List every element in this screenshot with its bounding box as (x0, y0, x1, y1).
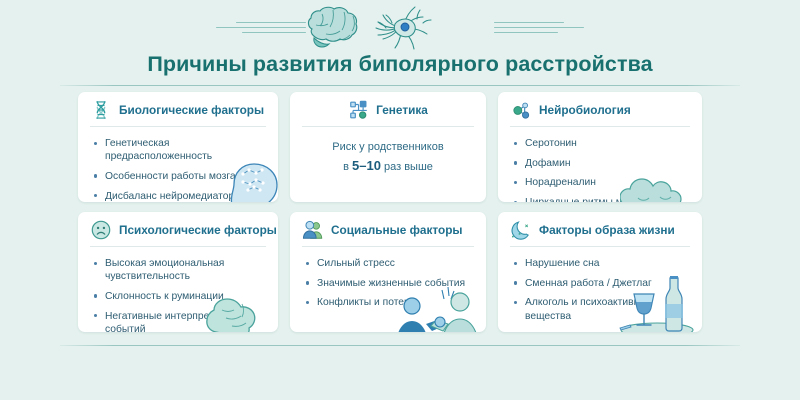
card-lifestyle[interactable]: Факторы образа жизни Нарушение сна Сменн… (498, 212, 702, 332)
card-neurobiology[interactable]: Нейробиология Серотонин Дофамин Норадрен… (498, 92, 702, 202)
infographic-canvas: Причины развития биполярного расстройств… (0, 0, 800, 400)
list-item: Норадреналин (514, 176, 692, 189)
molecule-icon (510, 99, 532, 121)
card-title: Биологические факторы (119, 103, 264, 117)
list-item: Генетическая предрасположенность (94, 137, 268, 163)
neuron-illustration (376, 7, 431, 49)
card-header: Биологические факторы (78, 92, 278, 126)
stat-prefix: в (343, 161, 349, 173)
header-divider (90, 126, 266, 127)
card-title: Нейробиология (539, 103, 631, 117)
list-item: Дисбаланс нейромедиаторов (94, 190, 268, 202)
page-title: Причины развития биполярного расстройств… (0, 52, 800, 77)
list-item: Нарушение сна (514, 257, 692, 270)
genetics-stat-line1: Риск у родственников (300, 140, 476, 156)
header-divider (90, 246, 266, 247)
card-header: Нейробиология (498, 92, 702, 126)
pedigree-chart-icon (348, 99, 370, 121)
card-header: Психологические факторы (78, 212, 278, 246)
divider-bottom (60, 345, 740, 346)
card-title: Психологические факторы (119, 223, 277, 237)
sad-face-icon (90, 219, 112, 241)
card-title: Генетика (376, 103, 428, 117)
list-item: Высокая эмоциональная чувствительность (94, 257, 268, 283)
stat-value: 5–10 (352, 158, 381, 173)
header-divider (302, 246, 474, 247)
card-header: Генетика (290, 92, 486, 126)
header-divider (302, 126, 474, 127)
header-divider (510, 126, 690, 127)
crescent-moon-icon (510, 219, 532, 241)
card-biological[interactable]: Биологические факторы Генетическая предр… (78, 92, 278, 202)
list-item: Негативные интерпретации событий (94, 310, 268, 332)
list-item: Склонность к руминации (94, 290, 268, 303)
list-item: Серотонин (514, 137, 692, 150)
card-genetics[interactable]: Генетика Риск у родственников в 5–10 раз… (290, 92, 486, 202)
card-header: Факторы образа жизни (498, 212, 702, 246)
list-item: Особенности работы мозга (94, 170, 268, 183)
list-item: Дофамин (514, 157, 692, 170)
card-psychological[interactable]: Психологические факторы Высокая эмоциона… (78, 212, 278, 332)
header-divider (510, 246, 690, 247)
genetics-stat: Риск у родственников в 5–10 раз выше (290, 134, 486, 176)
brain-illustration (308, 7, 356, 47)
header-left-lines (196, 22, 306, 40)
card-item-list: Высокая эмоциональная чувствительность С… (78, 254, 278, 332)
card-title: Факторы образа жизни (539, 223, 675, 237)
genetics-stat-line2: в 5–10 раз выше (300, 157, 476, 176)
card-social[interactable]: Социальные факторы Сильный стресс Значим… (290, 212, 486, 332)
header-right-lines (494, 22, 604, 40)
list-item: Сменная работа / Джетлаг (514, 277, 692, 290)
header-illustration (0, 0, 800, 52)
two-people-icon (302, 219, 324, 241)
list-item: Значимые жизненные события (306, 277, 476, 290)
brain-and-neuron-icon (300, 2, 500, 52)
list-item: Конфликты и потери (306, 296, 476, 309)
card-item-list: Сильный стресс Значимые жизненные событи… (290, 254, 486, 310)
list-item: Сильный стресс (306, 257, 476, 270)
card-header: Социальные факторы (290, 212, 486, 246)
list-item: Циркадные ритмы мозга (514, 196, 692, 202)
stat-suffix: раз выше (384, 161, 433, 173)
list-item: Алкоголь и психоактивные вещества (514, 296, 692, 322)
card-title: Социальные факторы (331, 223, 462, 237)
card-item-list: Серотонин Дофамин Норадреналин Циркадные… (498, 134, 702, 202)
card-item-list: Нарушение сна Сменная работа / Джетлаг А… (498, 254, 702, 323)
divider-top (60, 85, 740, 86)
dna-icon (90, 99, 112, 121)
card-item-list: Генетическая предрасположенность Особенн… (78, 134, 278, 202)
